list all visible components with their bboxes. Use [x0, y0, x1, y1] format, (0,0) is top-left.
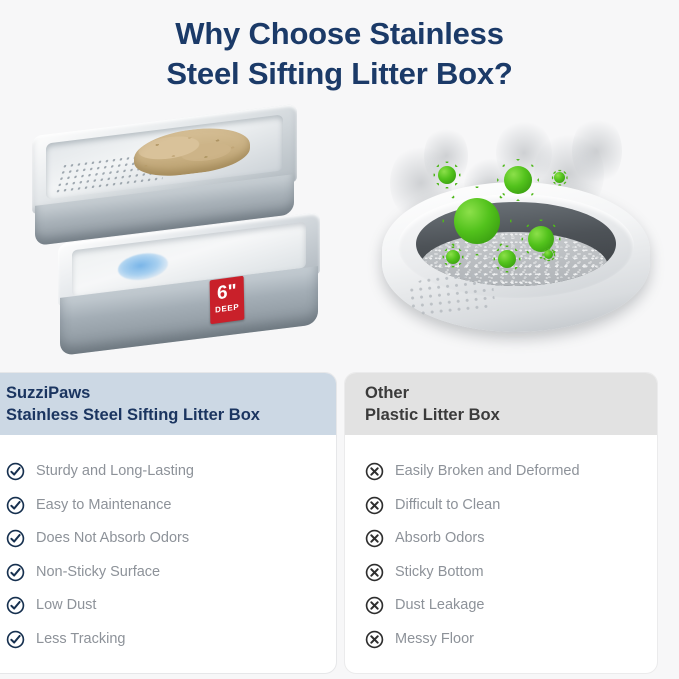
check-circle-icon [6, 563, 25, 582]
depth-badge: 6" DEEP [210, 276, 245, 325]
feature-label: Messy Floor [395, 630, 474, 649]
plastic-litter-box-image [368, 110, 668, 360]
x-circle-icon [365, 596, 384, 615]
list-item: Sticky Bottom [345, 556, 657, 590]
list-item: Difficult to Clean [345, 489, 657, 523]
feature-label: Sturdy and Long-Lasting [36, 462, 194, 481]
feature-label: Does Not Absorb Odors [36, 529, 189, 548]
feature-label: Easy to Maintenance [36, 496, 171, 515]
list-item: Non-Sticky Surface [0, 556, 336, 590]
list-item: Does Not Absorb Odors [0, 522, 336, 556]
card-product-name: Plastic Litter Box [365, 404, 657, 427]
germ-large [454, 198, 500, 244]
list-item: Easily Broken and Deformed [345, 455, 657, 489]
germ-medium-1 [504, 166, 532, 194]
feature-label: Non-Sticky Surface [36, 563, 160, 582]
feature-label: Easily Broken and Deformed [395, 462, 580, 481]
liquid-spot [118, 251, 168, 283]
page-title-line-1: Why Choose Stainless [0, 14, 679, 54]
page-title-line-2: Steel Sifting Litter Box? [0, 54, 679, 94]
check-circle-icon [6, 462, 25, 481]
comparison-card-other: Other Plastic Litter Box Easily Broken a… [344, 372, 658, 674]
germ-tiny-1 [554, 172, 565, 183]
card-product-name: Stainless Steel Sifting Litter Box [6, 404, 336, 427]
page-title: Why Choose Stainless Steel Sifting Litte… [0, 14, 679, 94]
feature-label: Sticky Bottom [395, 563, 484, 582]
check-circle-icon [6, 496, 25, 515]
check-circle-icon [6, 596, 25, 615]
feature-label: Dust Leakage [395, 596, 484, 615]
comparison-card-suzzipaws: SuzziPaws Stainless Steel Sifting Litter… [0, 372, 337, 674]
germ-small-1 [438, 166, 456, 184]
list-item: Sturdy and Long-Lasting [0, 455, 336, 489]
x-circle-icon [365, 462, 384, 481]
list-item: Absorb Odors [345, 522, 657, 556]
list-item: Messy Floor [345, 623, 657, 657]
feature-label: Less Tracking [36, 630, 125, 649]
hero-images: 6" DEEP [0, 110, 679, 365]
check-circle-icon [6, 529, 25, 548]
list-item: Low Dust [0, 589, 336, 623]
x-circle-icon [365, 496, 384, 515]
feature-label: Low Dust [36, 596, 96, 615]
germ-small-3 [446, 250, 460, 264]
stainless-steel-litter-box-image: 6" DEEP [24, 118, 334, 363]
card-header-other: Other Plastic Litter Box [345, 373, 657, 435]
list-item: Dust Leakage [345, 589, 657, 623]
feature-list-suzzipaws: Sturdy and Long-Lasting Easy to Maintena… [0, 435, 336, 656]
x-circle-icon [365, 630, 384, 649]
odor-smoke-5 [572, 116, 622, 186]
feature-label: Difficult to Clean [395, 496, 500, 515]
card-brand-name: Other [365, 382, 657, 404]
feature-label: Absorb Odors [395, 529, 484, 548]
comparison-cards: SuzziPaws Stainless Steel Sifting Litter… [0, 372, 679, 672]
germ-small-2 [498, 250, 516, 268]
list-item: Less Tracking [0, 623, 336, 657]
list-item: Easy to Maintenance [0, 489, 336, 523]
wood-pellets [134, 123, 250, 181]
x-circle-icon [365, 529, 384, 548]
feature-list-other: Easily Broken and Deformed Difficult to … [345, 435, 657, 656]
card-brand-name: SuzziPaws [6, 382, 336, 404]
germ-tiny-2 [544, 250, 553, 259]
x-circle-icon [365, 563, 384, 582]
check-circle-icon [6, 630, 25, 649]
card-header-suzzipaws: SuzziPaws Stainless Steel Sifting Litter… [0, 373, 336, 435]
